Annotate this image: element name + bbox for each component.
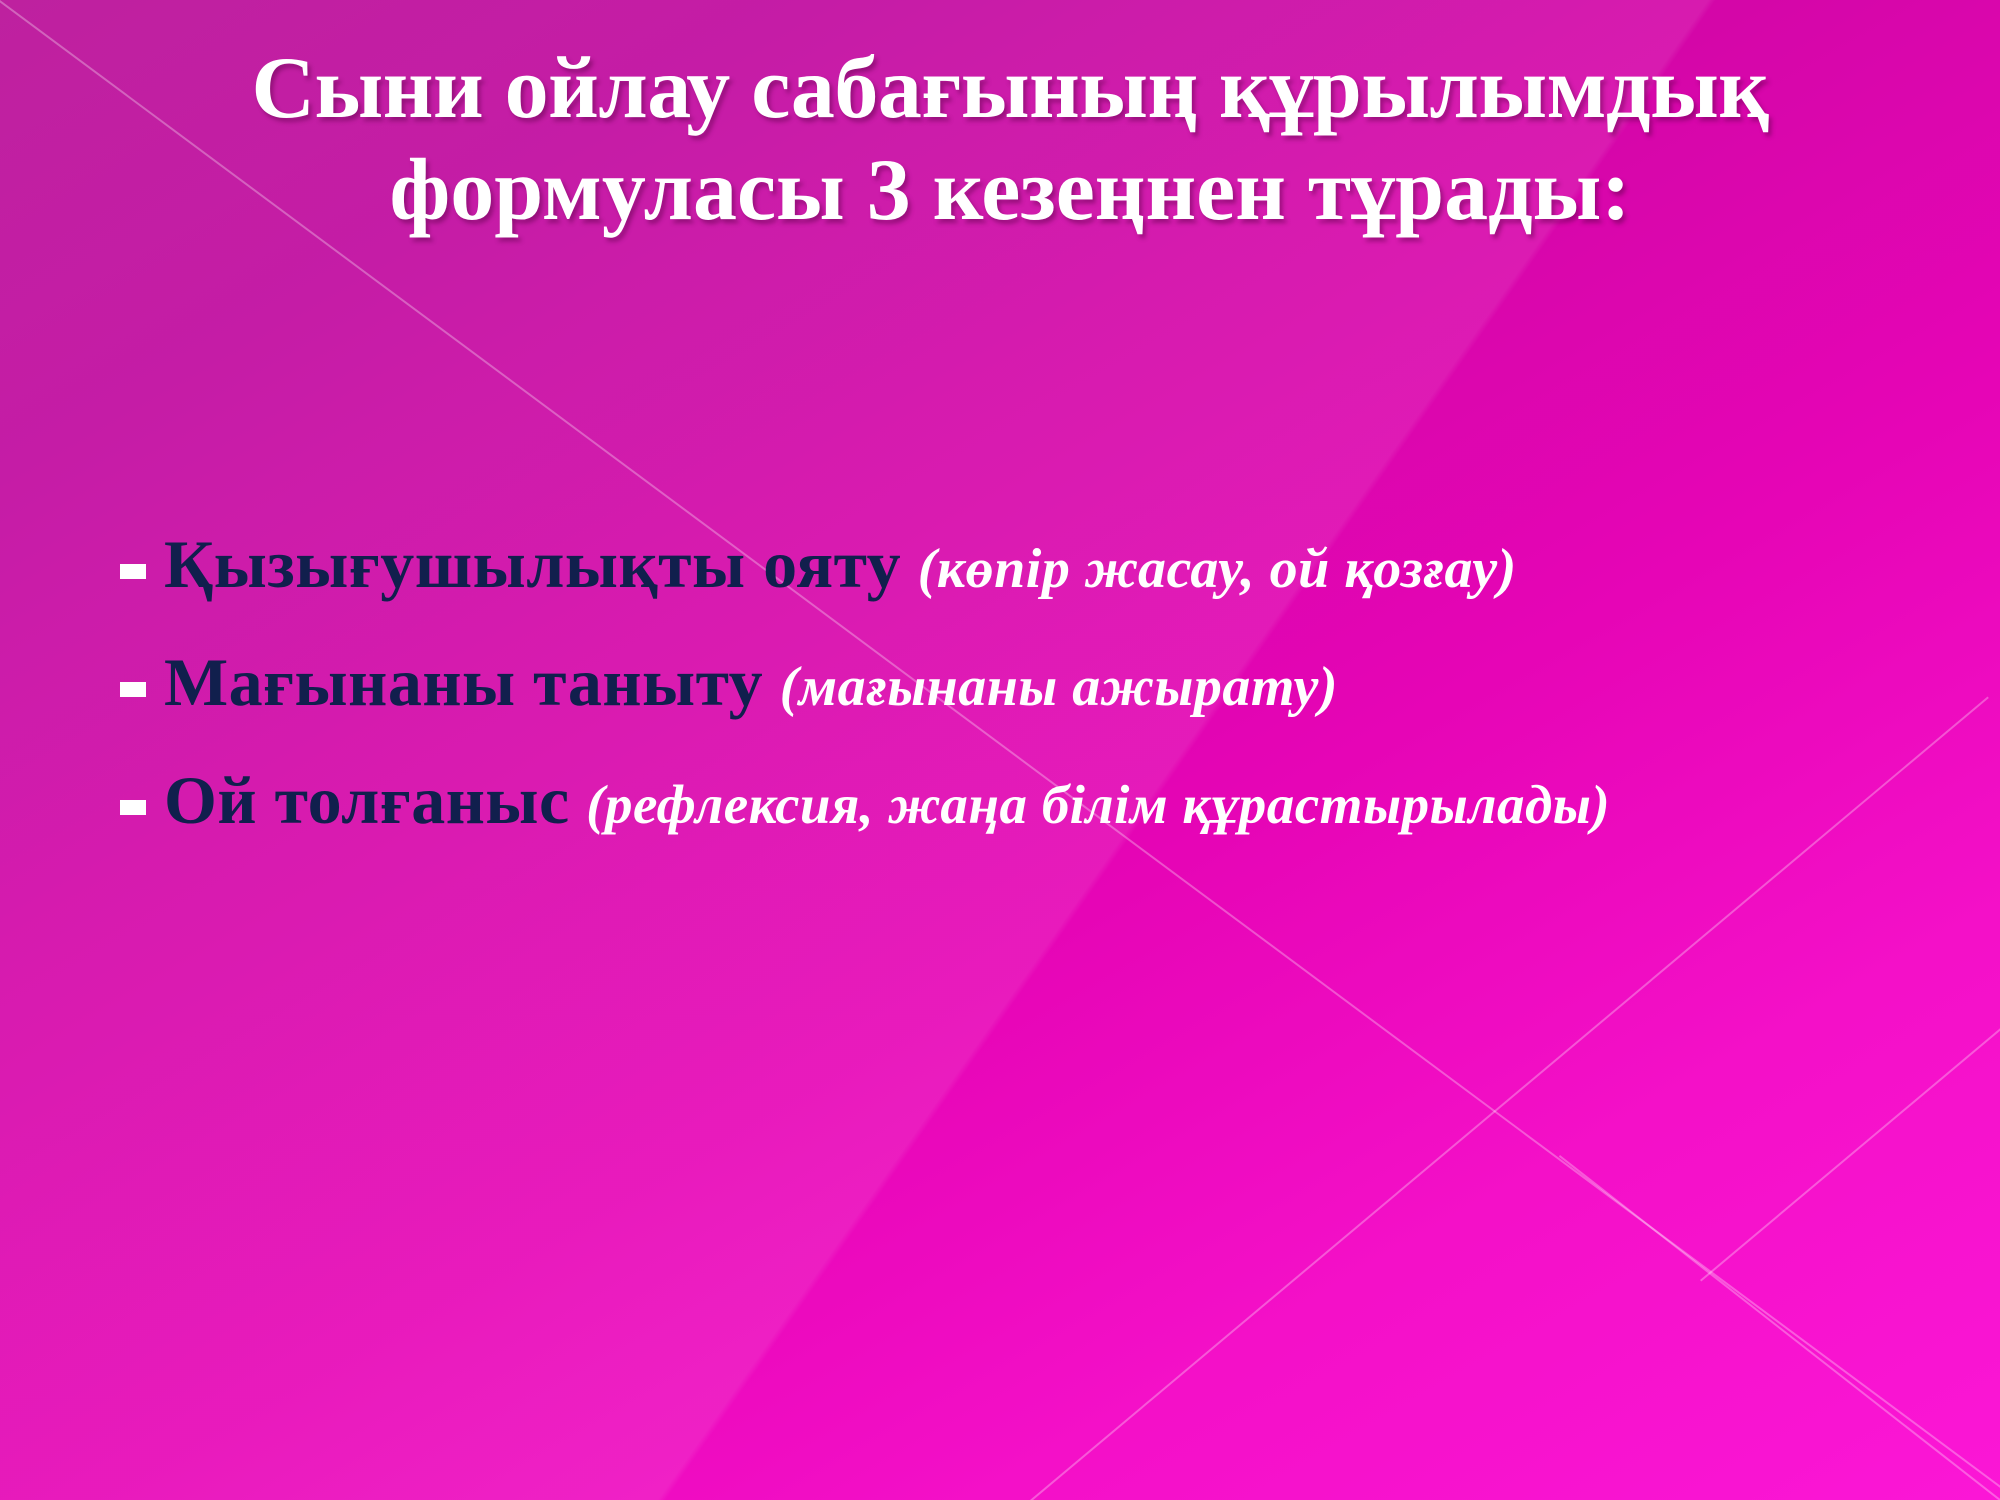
square-bullet-icon xyxy=(120,564,146,579)
list-item: Қызығушылықты ояту (көпір жасау, ой қозғ… xyxy=(120,520,1920,610)
list-item: Ой толғаныс (рефлексия, жаңа білім құрас… xyxy=(120,756,1920,846)
square-bullet-icon xyxy=(120,682,146,697)
diagonal-divider-line-fourth xyxy=(1700,1010,2000,1282)
square-bullet-icon xyxy=(120,800,146,815)
list-item-heading: Қызығушылықты ояту xyxy=(164,526,901,602)
list-item-note: (рефлексия, жаңа білім құрастырылады) xyxy=(586,774,1610,835)
list-item-heading: Ой толғаныс xyxy=(164,762,570,838)
list-item-heading: Мағынаны таныту xyxy=(164,644,763,720)
diagonal-divider-line-third xyxy=(1559,1155,2000,1500)
slide-title-line-2: формуласы 3 кезеңнен тұрады: xyxy=(110,140,1910,242)
list-item-note: (көпір жасау, ой қозғау) xyxy=(918,538,1517,600)
list-item-body: Мағынаны таныту (мағынаны ажырату) xyxy=(164,638,1484,728)
presentation-slide: Сыни ойлау сабағының құрылымдық формулас… xyxy=(0,0,2000,1500)
list-item-note: (мағынаны ажырату) xyxy=(780,656,1338,718)
slide-title-line-1: Сыни ойлау сабағының құрылымдық xyxy=(110,38,1910,140)
list-item-body: Ой толғаныс (рефлексия, жаңа білім құрас… xyxy=(164,756,1724,846)
list-item-body: Қызығушылықты ояту (көпір жасау, ой қозғ… xyxy=(164,520,1634,610)
bullet-list: Қызығушылықты ояту (көпір жасау, ой қозғ… xyxy=(120,520,1920,873)
slide-title: Сыни ойлау сабағының құрылымдық формулас… xyxy=(110,38,1910,242)
list-item: Мағынаны таныту (мағынаны ажырату) xyxy=(120,638,1920,728)
